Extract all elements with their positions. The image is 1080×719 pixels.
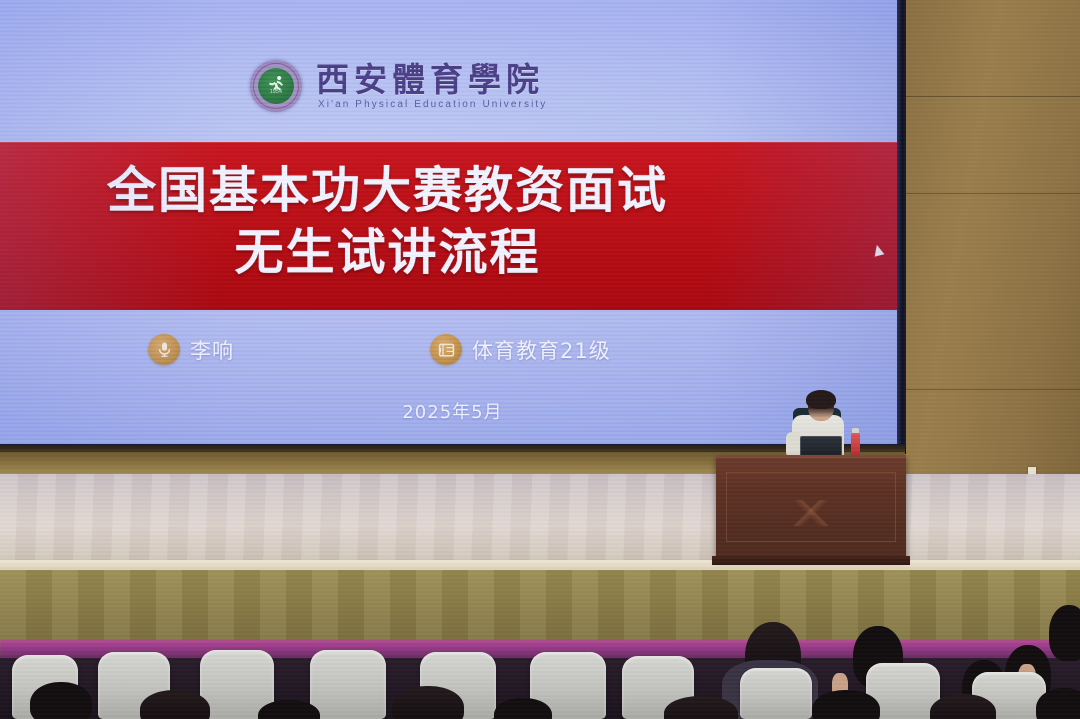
audience-head (812, 690, 880, 719)
podium-desk (716, 455, 906, 558)
projection-screen: 1954 西安體育學院 Xi'an Physical Education Uni… (0, 0, 905, 452)
audience-head (30, 682, 92, 719)
stage-front-grain (0, 570, 1080, 648)
university-wordmark: 西安體育學院 Xi'an Physical Education Universi… (316, 63, 547, 110)
audience-head (1049, 605, 1080, 661)
stage-floor-grain (0, 474, 1080, 568)
slide-title-line-1: 全国基本功大赛教资面试 (0, 160, 905, 222)
audience-head (392, 686, 464, 719)
slide-title-banner: 全国基本功大赛教资面试 无生试讲流程 (0, 142, 905, 310)
auditorium-seat (310, 650, 386, 719)
microphone-icon (148, 334, 180, 365)
wall-seam-line (905, 193, 1080, 194)
slide-date: 2025年5月 (0, 398, 905, 424)
water-bottle-cap (852, 428, 859, 433)
auditorium-seat (740, 668, 812, 719)
podium-base (712, 556, 910, 565)
wordmark-english: Xi'an Physical Education University (316, 99, 547, 110)
stage-floor (0, 474, 1080, 568)
podium-panel (726, 472, 896, 542)
class-byline: 体育教育21级 (430, 334, 611, 365)
presenter-hair (806, 390, 836, 409)
screen-bezel-right (897, 0, 906, 452)
stage-front-face (0, 570, 1080, 648)
microphone-glyph (157, 341, 172, 358)
slide-title-block: 全国基本功大赛教资面试 无生试讲流程 (0, 160, 905, 284)
wall-seam-line (905, 96, 1080, 97)
lecture-hall-photo: 1954 西安體育學院 Xi'an Physical Education Uni… (0, 0, 1080, 719)
wordmark-chinese: 西安體育學院 (316, 63, 547, 97)
presenter-byline: 李响 (148, 334, 234, 365)
class-name: 体育教育21级 (472, 335, 611, 365)
emblem-year: 1954 (258, 89, 294, 95)
wall-seam-line (905, 389, 1080, 390)
seal-group-glyph (438, 342, 455, 358)
seal-group-icon (430, 334, 462, 365)
emblem-core: 1954 (258, 68, 294, 104)
podium-chevron-inlay (751, 500, 872, 526)
university-seal-emblem: 1954 (250, 60, 302, 112)
slide-title-line-2: 无生试讲流程 (0, 222, 905, 284)
university-logo-lockup: 1954 西安體育學院 Xi'an Physical Education Uni… (250, 60, 547, 112)
audience-head (140, 690, 210, 719)
presenter-name: 李响 (190, 335, 234, 365)
